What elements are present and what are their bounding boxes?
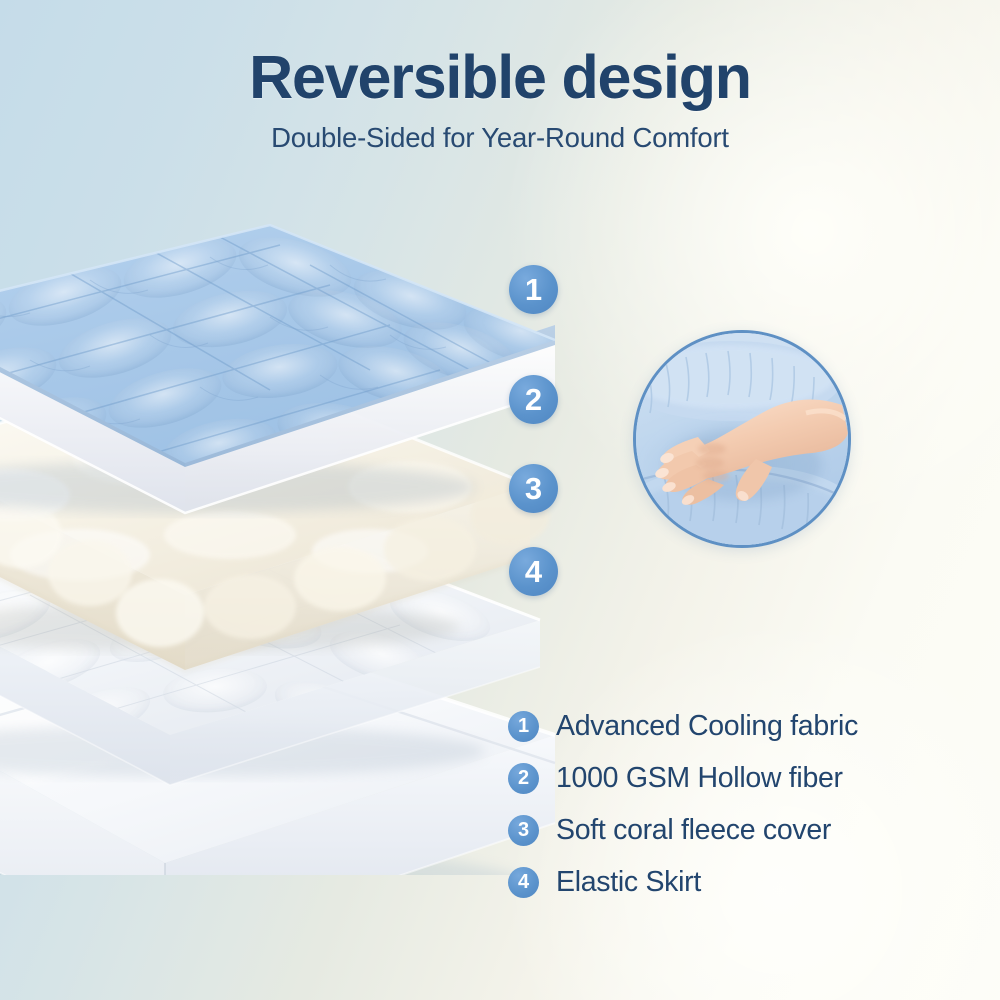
product-infographic: Reversible design Double-Sided for Year-… (0, 0, 1000, 1000)
callout-badge-4[interactable]: 4 (509, 547, 558, 596)
page-subtitle: Double-Sided for Year-Round Comfort (0, 122, 1000, 154)
legend-label-2: 1000 GSM Hollow fiber (556, 762, 843, 795)
page-title: Reversible design (0, 46, 1000, 108)
legend-item-1: 1 Advanced Cooling fabric (508, 700, 978, 752)
legend-label-3: Soft coral fleece cover (556, 814, 831, 847)
legend-item-3: 3 Soft coral fleece cover (508, 804, 978, 856)
legend-item-2: 2 1000 GSM Hollow fiber (508, 752, 978, 804)
legend-label-1: Advanced Cooling fabric (556, 710, 858, 743)
legend-badge-4: 4 (508, 867, 539, 898)
legend-badge-2: 2 (508, 763, 539, 794)
callout-badge-2[interactable]: 2 (509, 375, 558, 424)
legend-badge-1: 1 (508, 711, 539, 742)
callout-badge-1[interactable]: 1 (509, 265, 558, 314)
legend-label-4: Elastic Skirt (556, 866, 701, 899)
cooling-fabric-detail-inset (633, 330, 851, 548)
feature-legend-list: 1 Advanced Cooling fabric 2 1000 GSM Hol… (508, 700, 978, 908)
legend-item-4: 4 Elastic Skirt (508, 856, 978, 908)
callout-badge-3[interactable]: 3 (509, 464, 558, 513)
mattress-layer-stack-illustration (0, 195, 590, 875)
legend-badge-3: 3 (508, 815, 539, 846)
header-block: Reversible design Double-Sided for Year-… (0, 46, 1000, 154)
